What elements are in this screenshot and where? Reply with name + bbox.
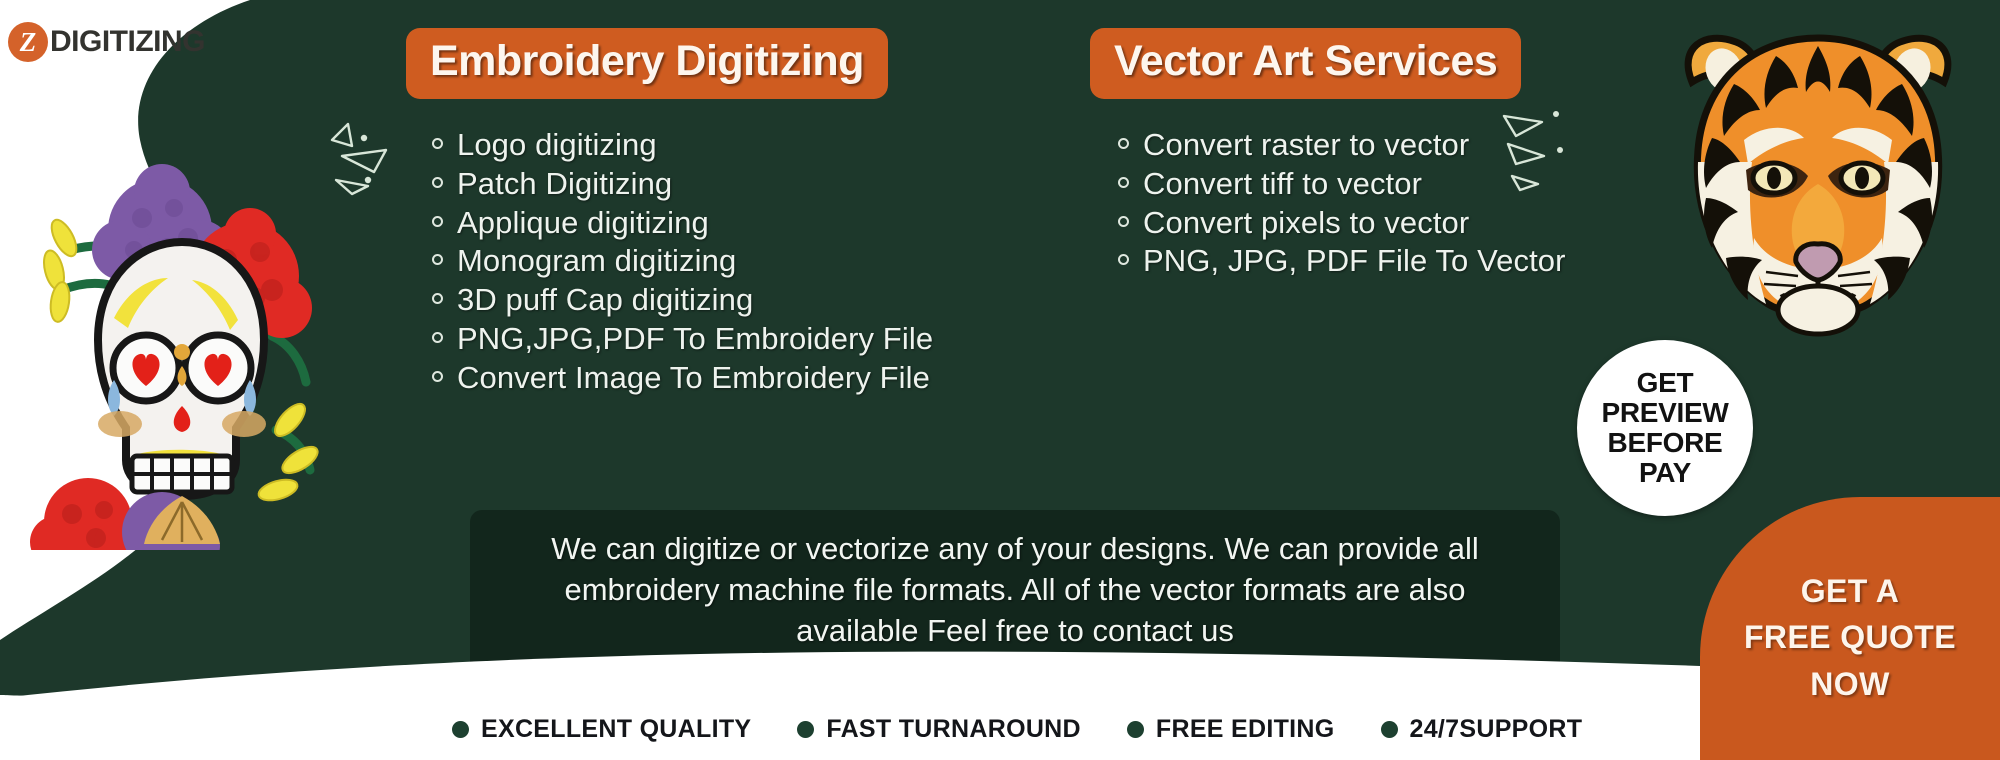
- brand-logo-text: DIGITIZING: [50, 25, 205, 59]
- bullet-icon: [432, 138, 443, 149]
- list-item: Monogram digitizing: [432, 242, 933, 281]
- feature-label: 24/7SUPPORT: [1410, 715, 1583, 744]
- list-item: Patch Digitizing: [432, 165, 933, 204]
- bullet-icon: [432, 371, 443, 382]
- bullet-dot-icon: [452, 721, 469, 738]
- feature-item: FAST TURNAROUND: [797, 715, 1081, 744]
- tiger-head-vector-artwork: [1648, 12, 1988, 342]
- bullet-icon: [1118, 216, 1129, 227]
- list-item: Applique digitizing: [432, 204, 933, 243]
- bullet-icon: [432, 177, 443, 188]
- preview-badge-label: GET PREVIEW BEFORE PAY: [1601, 368, 1728, 489]
- feature-item: FREE EDITING: [1127, 715, 1335, 744]
- bullet-icon: [432, 332, 443, 343]
- promo-banner: Z DIGITIZING: [0, 0, 2000, 760]
- list-item: Logo digitizing: [432, 126, 933, 165]
- feature-item: EXCELLENT QUALITY: [452, 715, 751, 744]
- bullet-icon: [1118, 138, 1129, 149]
- feature-label: EXCELLENT QUALITY: [481, 715, 751, 744]
- brand-logo[interactable]: Z DIGITIZING: [8, 22, 205, 62]
- sparkle-doodle-icon: [1482, 92, 1592, 202]
- list-item-label: Convert Image To Embroidery File: [457, 359, 930, 398]
- bullet-icon: [432, 293, 443, 304]
- cta-label: GET A FREE QUOTE NOW: [1744, 568, 1956, 707]
- list-item: 3D puff Cap digitizing: [432, 281, 933, 320]
- z-circle-icon: Z: [8, 22, 48, 62]
- list-item: PNG, JPG, PDF File To Vector: [1118, 242, 1566, 281]
- heading-embroidery-digitizing: Embroidery Digitizing: [406, 28, 888, 99]
- list-item: PNG,JPG,PDF To Embroidery File: [432, 320, 933, 359]
- bullet-icon: [1118, 177, 1129, 188]
- bullet-dot-icon: [797, 721, 814, 738]
- list-item-label: PNG, JPG, PDF File To Vector: [1143, 242, 1566, 281]
- sugar-skull-embroidery-artwork: [10, 130, 330, 550]
- list-item-label: PNG,JPG,PDF To Embroidery File: [457, 320, 933, 359]
- description-box: We can digitize or vectorize any of your…: [470, 510, 1560, 674]
- get-preview-before-pay-badge[interactable]: GET PREVIEW BEFORE PAY: [1577, 340, 1753, 516]
- list-item-label: Convert raster to vector: [1143, 126, 1469, 165]
- list-item-label: Applique digitizing: [457, 204, 709, 243]
- list-item-label: Logo digitizing: [457, 126, 657, 165]
- feature-label: FREE EDITING: [1156, 715, 1335, 744]
- list-item-label: Patch Digitizing: [457, 165, 672, 204]
- list-item: Convert pixels to vector: [1118, 204, 1566, 243]
- list-item: Convert Image To Embroidery File: [432, 359, 933, 398]
- list-item-label: Convert pixels to vector: [1143, 204, 1469, 243]
- bullet-icon: [432, 216, 443, 227]
- description-text: We can digitize or vectorize any of your…: [500, 528, 1530, 652]
- heading-vector-art-services: Vector Art Services: [1090, 28, 1521, 99]
- list-item-label: 3D puff Cap digitizing: [457, 281, 753, 320]
- service-list-embroidery: Logo digitizing Patch Digitizing Appliqu…: [432, 126, 933, 397]
- feature-label: FAST TURNAROUND: [826, 715, 1081, 744]
- bullet-dot-icon: [1127, 721, 1144, 738]
- bullet-icon: [1118, 254, 1129, 265]
- feature-item: 24/7SUPPORT: [1381, 715, 1583, 744]
- list-item-label: Convert tiff to vector: [1143, 165, 1422, 204]
- feature-list: EXCELLENT QUALITY FAST TURNAROUND FREE E…: [452, 715, 1582, 744]
- bullet-dot-icon: [1381, 721, 1398, 738]
- list-item-label: Monogram digitizing: [457, 242, 736, 281]
- bullet-icon: [432, 254, 443, 265]
